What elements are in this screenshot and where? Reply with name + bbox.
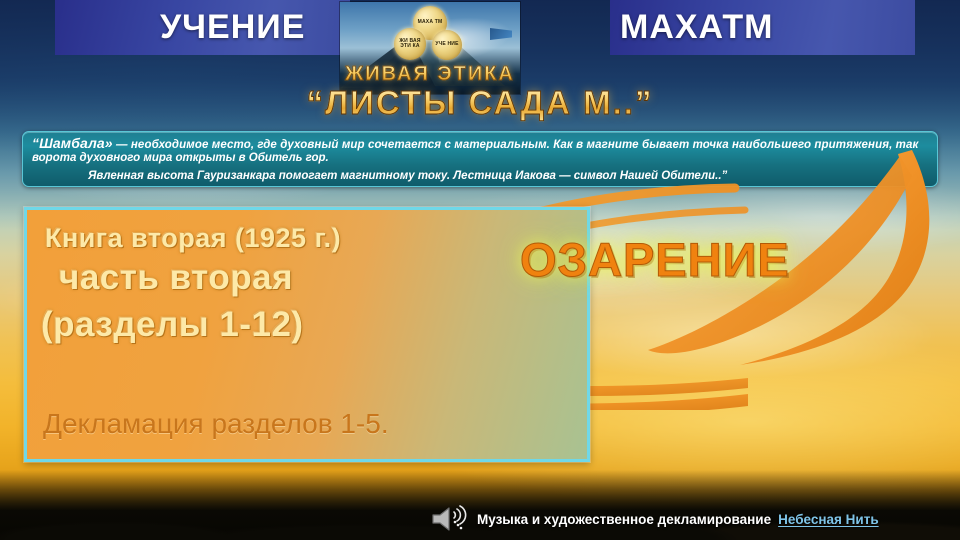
footer-credit-link[interactable]: Небесная Нить [778, 512, 879, 527]
panel-line-declamation: Декламация разделов 1-5. [43, 408, 389, 440]
quote-line-3: Явленная высота Гауризанкара помогает ма… [32, 165, 928, 183]
quote-line-2: ворота духовного мира открыты в Обитель … [32, 152, 928, 165]
emblem-caption: ЖИВАЯ ЭТИКА [340, 63, 520, 86]
footer-credit-text: Музыка и художественное декламирование [477, 512, 771, 527]
quote-keyword: “Шамбала» [32, 135, 113, 151]
living-ethics-emblem: МАХА ТМ ЖИ ВАЯ ЭТИ КА УЧЕ НИЕ ЖИВАЯ ЭТИК… [340, 2, 520, 94]
quote-box: “Шамбала» — необходимое место, где духов… [22, 131, 938, 187]
content-panel: Книга вторая (1925 г.) часть вторая (раз… [24, 207, 590, 462]
footer: Музыка и художественное декламирование Н… [430, 504, 879, 534]
quote-line-1: “Шамбала» — необходимое место, где духов… [32, 137, 928, 152]
panel-line-sections: (разделы 1-12) [41, 305, 304, 345]
emblem-circle-teaching: УЧЕ НИЕ [432, 30, 462, 60]
quote-line-1-rest: — необходимое место, где духовный мир со… [113, 139, 919, 151]
presentation-slide: УЧЕНИЕ МАХАТМ МАХА ТМ ЖИ ВАЯ ЭТИ КА УЧЕ … [0, 0, 960, 540]
header-title-left: УЧЕНИЕ [160, 0, 305, 55]
panel-line-part: часть вторая [59, 258, 293, 298]
panel-line-book: Книга вторая (1925 г.) [45, 223, 341, 254]
book-series-title: “ЛИСТЫ САДА М..” [0, 84, 960, 122]
emblem-circle-living-ethics: ЖИ ВАЯ ЭТИ КА [394, 28, 426, 60]
speaker-icon[interactable] [430, 505, 470, 533]
header-title-right: МАХАТМ [620, 0, 774, 55]
page-title: ОЗАРЕНИЕ [520, 232, 790, 287]
